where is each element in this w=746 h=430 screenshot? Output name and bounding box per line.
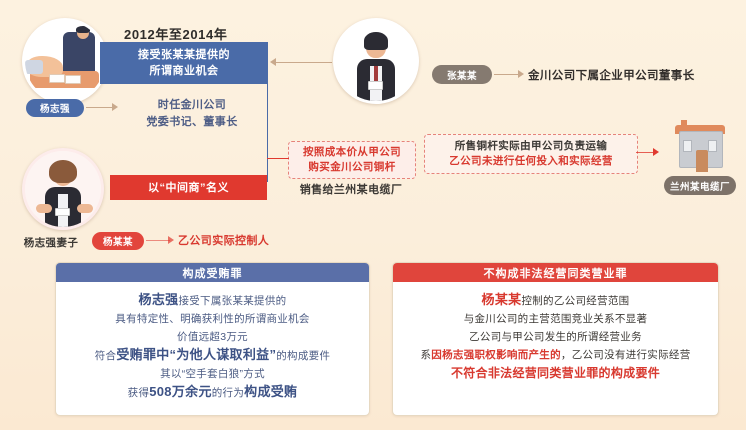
yang-role-line-2: 党委书记、董事长 (118, 114, 266, 131)
illustration-bribery-desk (22, 18, 108, 104)
panel-left-line-6-d: 构成受贿 (244, 384, 297, 399)
panel-right-line-4-c: ，乙公司没有进行实际经营 (561, 349, 691, 361)
panel-right-line-1: 杨某某控制的乙公司经营范围 (399, 291, 712, 310)
badge-zhang-moumou-label: 张某某 (447, 68, 477, 82)
panel-left-line-5: 其以“空手套白狼”方式 (62, 365, 363, 383)
zhang-hair (364, 32, 388, 50)
panel-left-line-4-b: 受贿罪中“为他人谋取利益” (116, 347, 276, 362)
yang-role-text: 时任金川公司 党委书记、董事长 (118, 97, 266, 131)
panel-left-line-4-a: 符合 (95, 350, 117, 362)
arrow-right-icon-zhang (518, 70, 524, 78)
illustration-zhang-portrait (333, 18, 419, 104)
panel-right-line-2: 与金川公司的主营范围竞业关系不显著 (399, 310, 712, 328)
factory-window-left (683, 140, 692, 152)
woman-right-arm (77, 204, 94, 213)
blue-statement-bar: 接受张某某提供的 所谓商业机会 (100, 42, 268, 84)
panel-left-line-4-c: 的构成要件 (276, 350, 330, 362)
connector-wife-role (146, 240, 170, 241)
panel-left-line-2: 具有特定性、明确获利性的所谓商业机会 (62, 310, 363, 328)
badge-yang-zhiqiang-label: 杨志强 (40, 101, 70, 115)
panel-right-title: 不构成非法经营同类营业罪 (393, 263, 718, 282)
panel-right-line-3: 乙公司与甲公司发生的所谓经营业务 (399, 328, 712, 346)
wife-relation-label: 杨志强妻子 (18, 235, 84, 252)
zhang-role-text: 金川公司下属企业甲公司董事长 (528, 68, 743, 85)
panel-right-line-4: 系因杨志强职权影响而产生的，乙公司没有进行实际经营 (399, 346, 712, 364)
panel-right-body: 杨某某控制的乙公司经营范围 与金川公司的主营范围竞业关系不显著 乙公司与甲公司发… (393, 282, 718, 388)
badge-yang-moumou[interactable]: 杨某某 (92, 232, 144, 250)
panel-left-title: 构成受贿罪 (56, 263, 369, 282)
panel-right-line-4-a: 系 (420, 349, 431, 361)
shirt-sleeve (25, 60, 43, 74)
panel-left-line-6-b: 508万余元 (149, 384, 212, 399)
wife-role-text: 乙公司实际控制人 (178, 233, 288, 250)
connector-to-purchase-box (267, 158, 289, 159)
badge-factory[interactable]: 兰州某电缆厂 (664, 176, 736, 195)
panel-left-line-3: 价值远超3万元 (62, 328, 363, 346)
panel-left-line-6-a: 获得 (128, 387, 150, 399)
seated-man-hair (76, 26, 90, 33)
blue-bar-line-1: 接受张某某提供的 (138, 47, 230, 63)
connector-yang-role (86, 107, 114, 108)
transport-dashed-box: 所售铜杆实际由甲公司负责运输 乙公司未进行任何投入和实际经营 (424, 134, 638, 174)
factory-window-right (708, 140, 717, 152)
arrow-right-icon-wife (168, 236, 174, 244)
woman-hair (49, 160, 76, 183)
panel-left-body: 杨志强接受下属张某某提供的 具有特定性、明确获利性的所谓商业机会 价值远超3万元… (56, 282, 369, 408)
purchase-line-1: 按照成本价从甲公司 (303, 145, 401, 160)
arrow-left-icon (270, 58, 276, 66)
arrow-right-icon-factory (653, 148, 659, 156)
connector-zhang-to-yang (276, 62, 332, 63)
cash-note-1 (49, 74, 65, 83)
panel-left-line-6-c: 的行为 (212, 387, 244, 399)
panel-right-line-1-rest: 控制的乙公司经营范围 (521, 295, 629, 307)
cash-note-2 (65, 75, 81, 84)
sell-line-text: 销售给兰州某电缆厂 (288, 182, 414, 199)
badge-yang-moumou-label: 杨某某 (103, 234, 133, 248)
period-title: 2012年至2014年 (124, 24, 227, 43)
panel-illegal-business-conclusion: 不构成非法经营同类营业罪 杨某某控制的乙公司经营范围 与金川公司的主营范围竞业关… (392, 262, 719, 416)
connector-vertical-blue (267, 84, 268, 182)
panel-bribery-conclusion: 构成受贿罪 杨志强接受下属张某某提供的 具有特定性、明确获利性的所谓商业机会 价… (55, 262, 370, 416)
panel-left-line-6: 获得508万余元的行为构成受贿 (62, 383, 363, 402)
woman-id-badge (55, 208, 69, 217)
woman-left-arm (36, 204, 53, 213)
connector-zhang-role (494, 74, 520, 75)
transport-line-1: 所售铜杆实际由甲公司负责运输 (455, 139, 608, 154)
factory-door (696, 150, 708, 172)
panel-right-line-5: 不符合非法经营同类营业罪的构成要件 (399, 364, 712, 382)
zhang-id-badge (368, 81, 383, 90)
panel-left-line-1-rest: 接受下属张某某提供的 (178, 295, 286, 307)
desk-scene (25, 21, 105, 101)
blue-bar-line-2: 所谓商业机会 (150, 63, 219, 79)
woman-figure (25, 151, 101, 227)
factory-illustration (672, 120, 728, 172)
transport-line-2: 乙公司未进行任何投入和实际经营 (449, 154, 613, 169)
red-bar-label: 以“中间商”名义 (148, 180, 229, 196)
zhang-figure (336, 21, 416, 101)
red-statement-bar: 以“中间商”名义 (110, 175, 267, 200)
panel-right-line-4-b: 因杨志强职权影响而产生的 (431, 349, 561, 361)
illustration-wife-portrait (22, 148, 104, 230)
badge-factory-label: 兰州某电缆厂 (670, 179, 730, 193)
purchase-line-2: 购买金川公司铜杆 (308, 160, 395, 175)
panel-right-line-1-highlight: 杨某某 (482, 292, 522, 307)
badge-zhang-moumou[interactable]: 张某某 (432, 65, 492, 84)
panel-left-line-1: 杨志强接受下属张某某提供的 (62, 291, 363, 310)
yang-role-line-1: 时任金川公司 (118, 97, 266, 114)
panel-left-line-1-highlight: 杨志强 (139, 292, 179, 307)
infographic-canvas: 2012年至2014年 接受张某某提供的 所谓商业机会 杨志强 时任金川公司 党… (0, 0, 746, 430)
purchase-dashed-box: 按照成本价从甲公司 购买金川公司铜杆 (288, 141, 416, 179)
badge-yang-zhiqiang[interactable]: 杨志强 (26, 99, 84, 117)
panel-left-line-4: 符合受贿罪中“为他人谋取利益”的构成要件 (62, 346, 363, 365)
